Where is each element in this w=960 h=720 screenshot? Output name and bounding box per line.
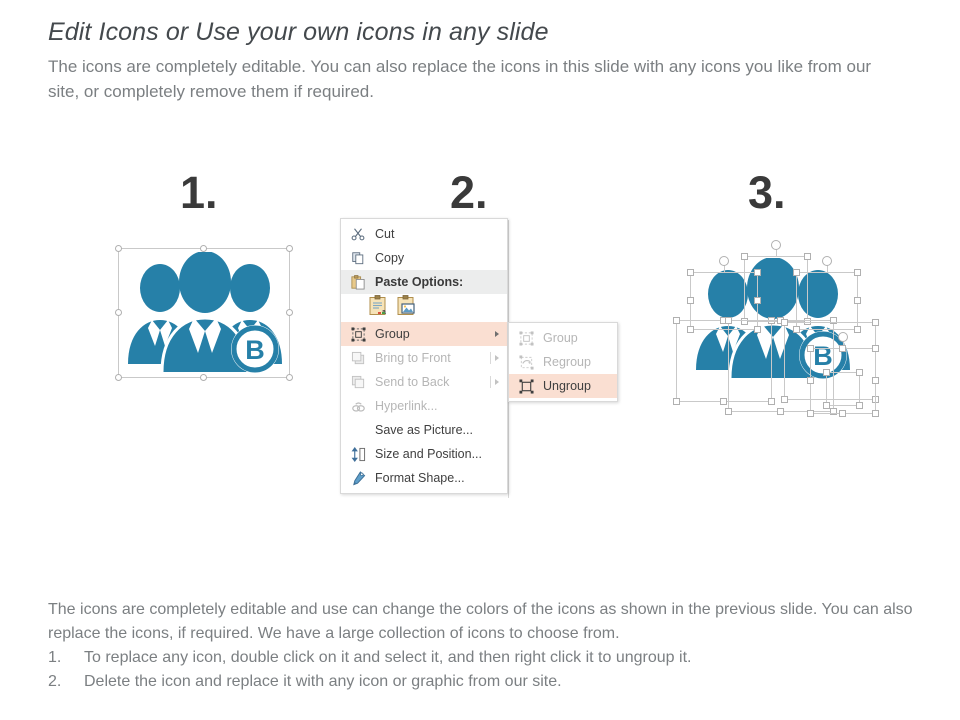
rotate-handle[interactable] <box>719 256 729 266</box>
selection-handle-nw[interactable] <box>807 345 814 352</box>
group-submenu[interactable]: Group Regroup Ungroup <box>508 322 618 402</box>
scissors-icon <box>347 225 369 243</box>
menu-item-size-and-position-label: Size and Position... <box>375 447 507 461</box>
menu-item-copy[interactable]: Copy <box>341 246 507 270</box>
paste-options-row[interactable]: a <box>341 294 507 322</box>
chevron-right-icon <box>495 355 499 361</box>
selection-handle-s[interactable] <box>720 398 727 405</box>
menu-item-hyperlink-label: Hyperlink... <box>375 399 507 413</box>
submenu-item-regroup-label: Regroup <box>543 355 617 369</box>
selection-handle-w[interactable] <box>687 297 694 304</box>
selection-handle-ne[interactable] <box>804 253 811 260</box>
picture-paste-icon[interactable] <box>397 295 417 321</box>
group-icon <box>515 329 537 347</box>
selection-handle-sw[interactable] <box>807 410 814 417</box>
menu-item-save-as-picture-label: Save as Picture... <box>375 423 507 437</box>
list-item: 1. To replace any icon, double click on … <box>48 646 928 670</box>
selection-box-shape-badge-letter[interactable] <box>826 372 860 406</box>
format-shape-icon <box>347 469 369 487</box>
send-to-back-icon <box>347 373 369 391</box>
submenu-item-ungroup[interactable]: Ungroup <box>509 374 617 398</box>
selection-handle-se[interactable] <box>872 410 879 417</box>
selection-handle-ne[interactable] <box>286 245 293 252</box>
menu-item-paste-options: Paste Options: <box>341 270 507 294</box>
selection-handle-sw[interactable] <box>725 408 732 415</box>
no-icon <box>347 421 369 439</box>
selection-handle-nw[interactable] <box>823 369 830 376</box>
bring-to-front-icon <box>347 349 369 367</box>
menu-item-separator <box>490 376 491 388</box>
hyperlink-icon <box>347 397 369 415</box>
menu-item-send-to-back[interactable]: Send to Back <box>341 370 507 394</box>
menu-item-format-shape-label: Format Shape... <box>375 471 507 485</box>
list-item-text: To replace any icon, double click on it … <box>84 646 691 670</box>
rotate-handle[interactable] <box>838 332 848 342</box>
submenu-item-regroup[interactable]: Regroup <box>509 350 617 374</box>
selection-handle-se[interactable] <box>856 402 863 409</box>
submenu-item-ungroup-label: Ungroup <box>543 379 617 393</box>
submenu-item-group[interactable]: Group <box>509 326 617 350</box>
paste-icon <box>347 273 369 291</box>
menu-item-bring-to-front-label: Bring to Front <box>375 351 495 365</box>
keep-source-formatting-icon[interactable]: a <box>369 295 389 321</box>
step-number-1: 1. <box>180 170 218 215</box>
copy-icon <box>347 249 369 267</box>
menu-item-hyperlink[interactable]: Hyperlink... <box>341 394 507 418</box>
footer-paragraph: The icons are completely editable and us… <box>48 598 928 646</box>
rotate-handle[interactable] <box>822 256 832 266</box>
footer-list: 1. To replace any icon, double click on … <box>48 646 928 694</box>
menu-item-bring-to-front[interactable]: Bring to Front <box>341 346 507 370</box>
selection-handle-ne[interactable] <box>872 345 879 352</box>
selection-handle-ne[interactable] <box>856 369 863 376</box>
submenu-item-group-label: Group <box>543 331 617 345</box>
selection-handle-n[interactable] <box>200 245 207 252</box>
selection-handle-w[interactable] <box>807 377 814 384</box>
list-item-text: Delete the icon and replace it with any … <box>84 670 562 694</box>
menu-item-group-label: Group <box>375 327 495 341</box>
list-item-number: 2. <box>48 670 84 694</box>
selection-handle-s[interactable] <box>777 408 784 415</box>
selection-box-grouped[interactable] <box>118 248 290 378</box>
selection-handle-nw[interactable] <box>673 317 680 324</box>
page-title: Edit Icons or Use your own icons in any … <box>48 18 549 47</box>
selection-handle-nw[interactable] <box>687 269 694 276</box>
selection-handle-nw[interactable] <box>115 245 122 252</box>
footer-text-block: The icons are completely editable and us… <box>48 598 928 694</box>
menu-item-size-and-position[interactable]: Size and Position... <box>341 442 507 466</box>
selection-handle-sw[interactable] <box>781 396 788 403</box>
menu-item-cut-label: Cut <box>375 227 507 241</box>
page-subtitle: The icons are completely editable. You c… <box>48 54 878 104</box>
list-item: 2. Delete the icon and replace it with a… <box>48 670 928 694</box>
chevron-right-icon <box>495 331 499 337</box>
rotate-handle[interactable] <box>771 240 781 250</box>
selection-handle-se[interactable] <box>286 374 293 381</box>
selection-handle-s[interactable] <box>200 374 207 381</box>
selection-handle-nw[interactable] <box>741 253 748 260</box>
menu-item-paste-options-label: Paste Options: <box>375 275 507 289</box>
selection-handle-sw[interactable] <box>115 374 122 381</box>
selection-handle-e[interactable] <box>854 297 861 304</box>
menu-item-format-shape[interactable]: Format Shape... <box>341 466 507 490</box>
chevron-right-icon <box>495 379 499 385</box>
group-icon <box>347 325 369 343</box>
menu-item-save-as-picture[interactable]: Save as Picture... <box>341 418 507 442</box>
selection-handle-ne[interactable] <box>854 269 861 276</box>
regroup-icon <box>515 353 537 371</box>
selection-handle-e[interactable] <box>872 377 879 384</box>
menu-item-separator <box>490 352 491 364</box>
size-position-icon <box>347 445 369 463</box>
context-menu[interactable]: Cut Copy Paste Options: <box>340 218 508 494</box>
menu-item-copy-label: Copy <box>375 251 507 265</box>
selection-handle-nw[interactable] <box>781 319 788 326</box>
selection-handle-n[interactable] <box>839 345 846 352</box>
selection-handle-ne[interactable] <box>872 319 879 326</box>
selection-handle-nw[interactable] <box>725 317 732 324</box>
selection-handle-w[interactable] <box>115 309 122 316</box>
menu-item-group[interactable]: Group <box>341 322 507 346</box>
selection-handle-sw[interactable] <box>673 398 680 405</box>
ungroup-icon <box>515 377 537 395</box>
selection-handle-e[interactable] <box>286 309 293 316</box>
selection-handle-nw[interactable] <box>793 269 800 276</box>
menu-item-send-to-back-label: Send to Back <box>375 375 495 389</box>
menu-item-cut[interactable]: Cut <box>341 222 507 246</box>
list-item-number: 1. <box>48 646 84 670</box>
step-number-3: 3. <box>748 170 786 215</box>
step-number-2: 2. <box>450 170 488 215</box>
selection-handle-sw[interactable] <box>823 402 830 409</box>
selection-handle-s[interactable] <box>839 410 846 417</box>
